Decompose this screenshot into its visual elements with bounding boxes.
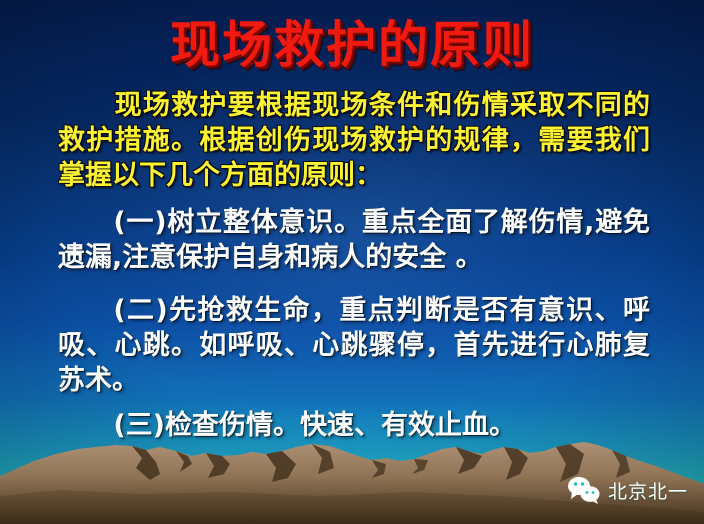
slide-title: 现场救护的原则: [0, 19, 704, 72]
watermark-label: 北京北一: [608, 477, 688, 504]
paragraph-principle-1: (一)树立整体意识。重点全面了解伤情,避免遗漏,注意保护自身和病人的安全 。: [58, 205, 650, 275]
paragraph-intro: 现场救护要根据现场条件和伤情采取不同的救护措施。根据创伤现场救护的规律，需要我们…: [58, 88, 650, 193]
paragraph-principle-2: (二)先抢救生命，重点判断是否有意识、呼吸、心跳。如呼吸、心跳骤停，首先进行心肺…: [58, 293, 650, 398]
wechat-icon: [567, 476, 601, 504]
watermark: 北京北一: [567, 476, 688, 504]
paragraph-principle-1-text: (一)树立整体意识。重点全面了解伤情,避免遗漏,注意保护自身和病人的安全 。: [58, 207, 650, 273]
paragraph-intro-text: 现场救护要根据现场条件和伤情采取不同的救护措施。根据创伤现场救护的规律，需要我们…: [58, 90, 650, 191]
slide-content: 现场救护的原则 现场救护要根据现场条件和伤情采取不同的救护措施。根据创伤现场救护…: [0, 0, 704, 524]
paragraph-principle-3: (三)检查伤情。快速、有效止血。: [58, 408, 650, 443]
paragraph-principle-2-text: (二)先抢救生命，重点判断是否有意识、呼吸、心跳。如呼吸、心跳骤停，首先进行心肺…: [58, 295, 650, 396]
slide-canvas: 现场救护的原则 现场救护要根据现场条件和伤情采取不同的救护措施。根据创伤现场救护…: [0, 0, 704, 524]
paragraph-principle-3-text: (三)检查伤情。快速、有效止血。: [113, 410, 516, 441]
